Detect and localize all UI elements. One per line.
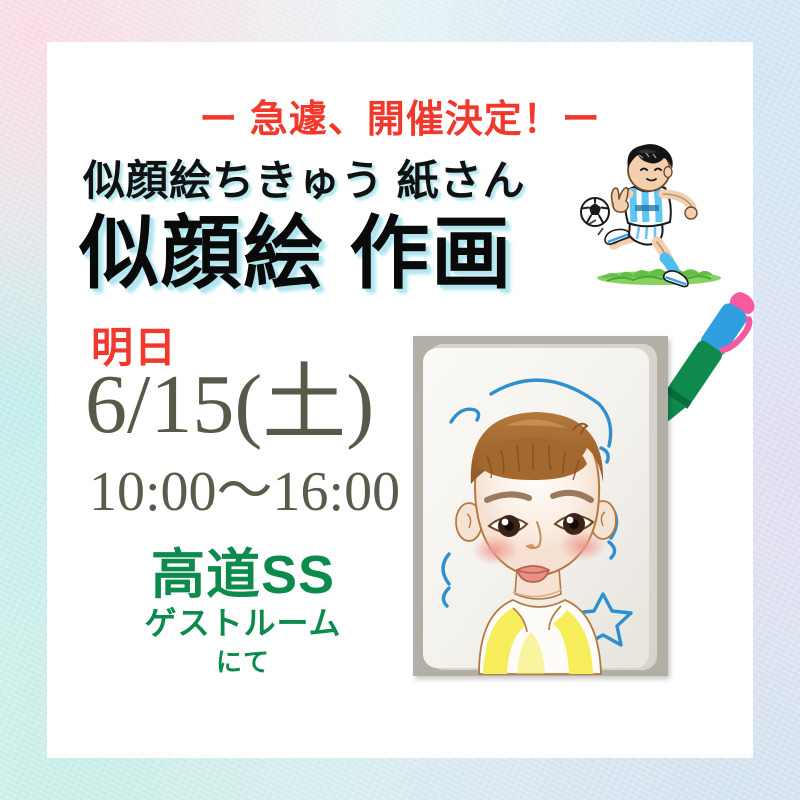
venue-suffix: にて bbox=[47, 642, 439, 679]
caricature-photo bbox=[413, 336, 668, 676]
soccer-player-illustration bbox=[567, 142, 742, 292]
event-time: 10:00〜16:00 bbox=[89, 462, 400, 522]
artist-name-text: 似顔絵ちきゅう 紙さん bbox=[83, 147, 526, 208]
venue-room: ゲストルーム bbox=[47, 598, 439, 644]
headline-text: ー 急遽、開催決定！ー bbox=[47, 88, 753, 143]
poster-canvas: ー 急遽、開催決定！ー 似顔絵ちきゅう 紙さん 似顔絵 作画 明日 6/15(土… bbox=[0, 0, 800, 800]
page-title: 似顔絵 作画 bbox=[79, 214, 513, 294]
event-date: 6/15(土) bbox=[85, 360, 374, 451]
